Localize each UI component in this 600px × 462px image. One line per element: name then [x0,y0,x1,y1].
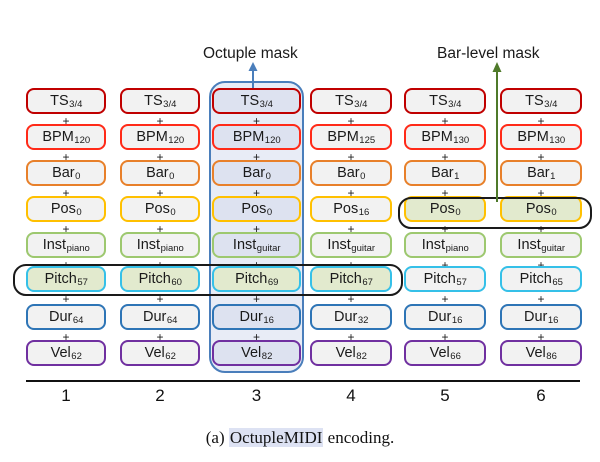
token-name: Bar [431,166,454,181]
token-subscript: 3/4 [544,100,557,110]
column-number-2: 2 [140,386,180,406]
token-subscript: 16 [548,316,559,326]
token-dur-col6: Dur16 [500,304,582,330]
token-bpm-col4: BPM125 [310,124,392,150]
token-bpm-col6: BPM130 [500,124,582,150]
token-subscript: 130 [549,136,565,146]
token-name: Pos [145,202,170,217]
timeline-baseline [26,380,580,382]
bar-level-mask-arrow-icon [487,62,507,202]
token-name: Inst [43,238,66,253]
token-subscript: 120 [265,136,281,146]
token-subscript: 65 [552,278,563,288]
token-bar-col4: Bar0 [310,160,392,186]
token-pos-col1: Pos0 [26,196,106,222]
token-subscript: 0 [169,172,174,182]
token-name: BPM [327,130,358,145]
token-ts-col5: TS3/4 [404,88,486,114]
token-name: BPM [517,130,548,145]
token-subscript: 130 [453,136,469,146]
token-subscript: 0 [170,208,175,218]
column-number-4: 4 [331,386,371,406]
token-subscript: 3/4 [163,100,176,110]
token-subscript: 120 [168,136,184,146]
token-name: BPM [421,130,452,145]
token-name: TS [525,94,544,109]
token-subscript: 64 [73,316,84,326]
token-name: Bar [243,166,266,181]
token-name: Dur [428,310,451,325]
token-vel-col5: Vel66 [404,340,486,366]
token-name: BPM [136,130,167,145]
bar-level-mask-label: Bar-level mask [437,45,540,63]
figure-caption: (a) OctupleMIDI encoding. [0,428,600,448]
token-subscript: 125 [359,136,375,146]
token-subscript: 16 [452,316,463,326]
token-name: Vel [526,346,546,361]
token-inst-col6: Instguitar [500,232,582,258]
token-name: TS [429,94,448,109]
token-subscript: piano [161,244,184,254]
token-name: Inst [422,238,445,253]
token-name: Pitch [424,272,456,287]
caption-highlight: OctupleMIDI [229,428,324,447]
token-dur-col5: Dur16 [404,304,486,330]
octuplemidi-figure: TS3/4+BPM120+Bar0+Pos0+Instpiano+Pitch57… [0,0,600,462]
token-subscript: 0 [266,172,271,182]
token-name: Inst [327,238,350,253]
token-dur-col1: Dur64 [26,304,106,330]
token-dur-col2: Dur64 [120,304,200,330]
token-subscript: 66 [450,352,461,362]
token-vel-col6: Vel86 [500,340,582,366]
token-subscript: 120 [74,136,90,146]
token-ts-col6: TS3/4 [500,88,582,114]
token-bar-col2: Bar0 [120,160,200,186]
token-name: TS [335,94,354,109]
token-inst-col5: Instpiano [404,232,486,258]
caption-suffix: encoding. [323,428,394,447]
token-subscript: 0 [75,172,80,182]
token-name: Bar [146,166,169,181]
token-inst-col3: Instguitar [212,232,301,258]
token-subscript: 3/4 [448,100,461,110]
token-subscript: 57 [456,278,467,288]
token-name: Inst [517,238,540,253]
token-name: Vel [241,346,261,361]
token-name: Pos [51,202,76,217]
token-pos-col2: Pos0 [120,196,200,222]
token-name: Dur [143,310,166,325]
token-name: Pitch [520,272,552,287]
token-name: TS [241,94,260,109]
token-vel-col4: Vel82 [310,340,392,366]
token-subscript: 82 [356,352,367,362]
token-name: Dur [334,310,357,325]
token-subscript: 16 [263,316,274,326]
token-bar-col1: Bar0 [26,160,106,186]
token-pitch-col5: Pitch57 [404,266,486,292]
token-name: BPM [42,130,73,145]
token-subscript: 16 [359,208,370,218]
token-name: Pos [241,202,266,217]
octuple-mask-label: Octuple mask [203,45,298,63]
token-vel-col1: Vel62 [26,340,106,366]
token-name: Bar [527,166,550,181]
column-number-1: 1 [46,386,86,406]
token-subscript: 3/4 [260,100,273,110]
token-subscript: 32 [358,316,369,326]
token-subscript: 64 [167,316,178,326]
token-inst-col4: Instguitar [310,232,392,258]
token-name: Bar [337,166,360,181]
token-name: Inst [137,238,160,253]
token-ts-col2: TS3/4 [120,88,200,114]
token-bpm-col1: BPM120 [26,124,106,150]
token-pos-col4: Pos16 [310,196,392,222]
token-vel-col3: Vel82 [212,340,301,366]
column-number-5: 5 [425,386,465,406]
token-bar-col6: Bar1 [500,160,582,186]
token-name: Vel [430,346,450,361]
token-name: Dur [240,310,263,325]
token-inst-col2: Instpiano [120,232,200,258]
token-name: Vel [145,346,165,361]
caption-prefix: (a) [206,428,229,447]
token-bar-col3: Bar0 [212,160,301,186]
token-ts-col4: TS3/4 [310,88,392,114]
octuple-mask-arrow-icon [243,62,263,88]
column-number-6: 6 [521,386,561,406]
token-subscript: 86 [546,352,557,362]
token-subscript: 3/4 [69,100,82,110]
token-subscript: 62 [71,352,82,362]
token-subscript: guitar [541,244,565,254]
token-inst-col1: Instpiano [26,232,106,258]
pitch-mask-outline [13,264,403,296]
token-dur-col4: Dur32 [310,304,392,330]
token-subscript: 3/4 [354,100,367,110]
token-subscript: 1 [454,172,459,182]
token-subscript: 0 [267,208,272,218]
token-name: Dur [49,310,72,325]
token-subscript: 0 [76,208,81,218]
token-pos-col3: Pos0 [212,196,301,222]
token-name: Bar [52,166,75,181]
token-ts-col3: TS3/4 [212,88,301,114]
token-name: TS [50,94,69,109]
token-name: Vel [51,346,71,361]
token-name: Dur [524,310,547,325]
token-subscript: guitar [351,244,375,254]
token-subscript: 0 [360,172,365,182]
token-vel-col2: Vel62 [120,340,200,366]
token-bar-col5: Bar1 [404,160,486,186]
token-name: Pos [333,202,358,217]
token-ts-col1: TS3/4 [26,88,106,114]
token-subscript: 82 [262,352,273,362]
token-bpm-col3: BPM120 [212,124,301,150]
token-bpm-col5: BPM130 [404,124,486,150]
token-subscript: piano [67,244,90,254]
token-subscript: guitar [257,244,281,254]
token-name: BPM [233,130,264,145]
token-name: Inst [233,238,256,253]
token-subscript: 1 [550,172,555,182]
token-subscript: 62 [165,352,176,362]
token-name: TS [144,94,163,109]
token-name: Vel [336,346,356,361]
token-pitch-col6: Pitch65 [500,266,582,292]
token-dur-col3: Dur16 [212,304,301,330]
token-subscript: piano [446,244,469,254]
token-bpm-col2: BPM120 [120,124,200,150]
column-number-3: 3 [237,386,277,406]
